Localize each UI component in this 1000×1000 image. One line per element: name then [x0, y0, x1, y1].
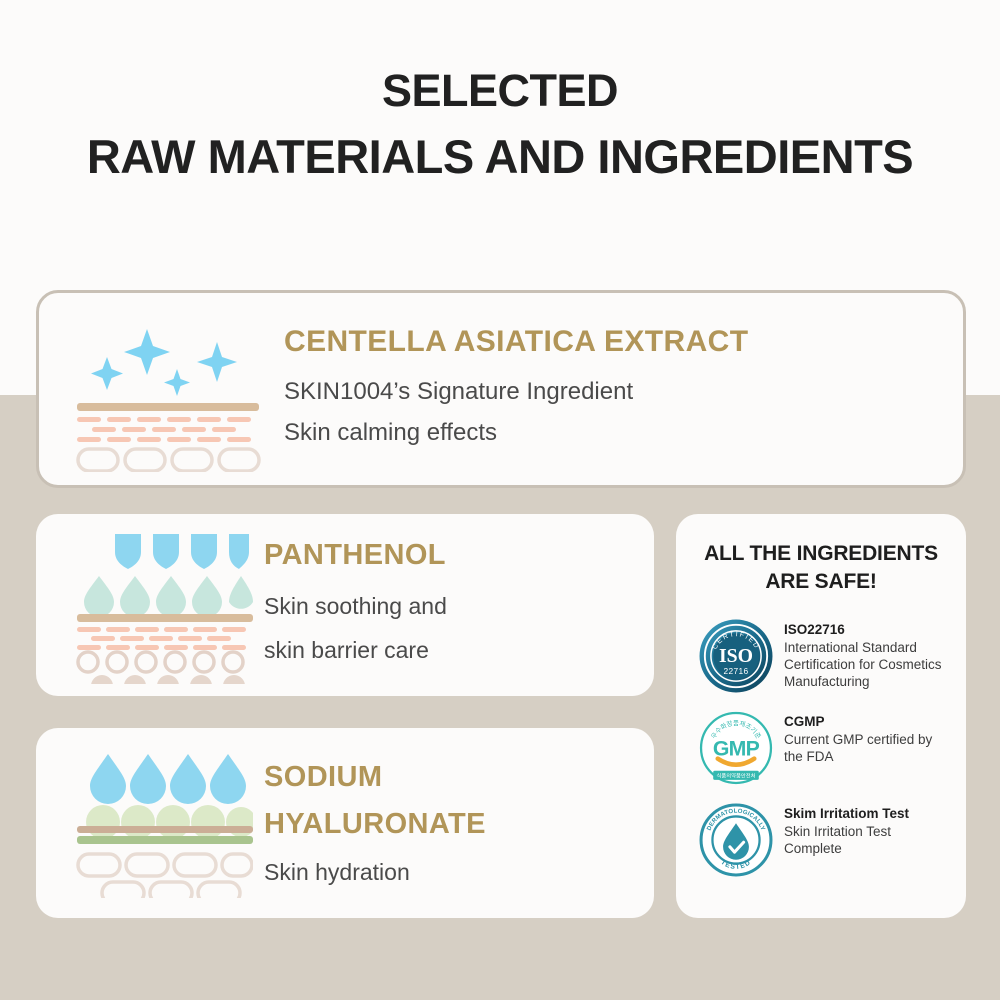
- ingredient-text-panthenol: PANTHENOL Skin soothing and skin barrier…: [264, 539, 654, 672]
- ingredient-desc-centella-1: SKIN1004’s Signature Ingredient: [284, 371, 963, 412]
- ingredient-text-centella: CENTELLA ASIATICA EXTRACT SKIN1004’s Sig…: [284, 325, 963, 453]
- svg-text:ISO: ISO: [719, 645, 753, 667]
- safe-panel-heading: ALL THE INGREDIENTS ARE SAFE!: [676, 514, 966, 596]
- cgmp-seal-icon: 우수화장품제조기준 GMP 식품의약품안전처: [698, 710, 774, 786]
- ingredient-card-centella: CENTELLA ASIATICA EXTRACT SKIN1004’s Sig…: [36, 290, 966, 488]
- certification-item-dermatologically-tested: DERMATOLOGICALLY TESTED Skim Irritatiom …: [676, 802, 966, 878]
- certification-title-iso: ISO22716: [784, 621, 950, 638]
- dermatologically-tested-seal-icon: DERMATOLOGICALLY TESTED: [698, 802, 774, 878]
- ingredient-title-panthenol: PANTHENOL: [264, 539, 654, 572]
- ingredient-desc-panthenol-2: skin barrier care: [264, 628, 654, 672]
- certification-text-dermatologically-tested: Skim Irritatiom Test Skin Irritation Tes…: [784, 802, 950, 857]
- ingredient-title-centella: CENTELLA ASIATICA EXTRACT: [284, 325, 963, 359]
- all-ingredients-safe-panel: ALL THE INGREDIENTS ARE SAFE!: [676, 514, 966, 918]
- ingredient-desc-panthenol-1: Skin soothing and: [264, 584, 654, 628]
- iso-certified-seal-icon: CERTIFIED ISO 22716: [698, 618, 774, 694]
- ingredient-card-sodium-hyaluronate: SODIUM HYALURONATE Skin hydration: [36, 728, 654, 918]
- certification-desc-iso: International Standard Certification for…: [784, 639, 950, 690]
- water-droplets-skin-layers-icon: [64, 748, 264, 898]
- ingredient-card-panthenol: PANTHENOL Skin soothing and skin barrier…: [36, 514, 654, 696]
- certification-text-iso: ISO22716 International Standard Certific…: [784, 618, 950, 690]
- ingredient-title-sodium-line2: HYALURONATE: [264, 801, 654, 848]
- shields-droplets-skin-layers-icon: [64, 526, 264, 684]
- certification-desc-dermatologically-tested: Skin Irritation Test Complete: [784, 823, 950, 857]
- certification-item-cgmp: 우수화장품제조기준 GMP 식품의약품안전처 CGMP Current GMP …: [676, 710, 966, 786]
- certification-list: CERTIFIED ISO 22716 ISO22716 Internation…: [676, 618, 966, 878]
- ingredient-desc-centella-2: Skin calming effects: [284, 412, 963, 453]
- certification-item-iso: CERTIFIED ISO 22716 ISO22716 Internation…: [676, 618, 966, 694]
- sparkles-skin-layers-icon: [61, 307, 276, 472]
- safe-panel-heading-line2: ARE SAFE!: [694, 568, 948, 596]
- ingredient-text-sodium-hyaluronate: SODIUM HYALURONATE Skin hydration: [264, 754, 654, 893]
- page-title: SELECTED RAW MATERIALS AND INGREDIENTS: [0, 58, 1000, 190]
- safe-panel-heading-line1: ALL THE INGREDIENTS: [694, 540, 948, 568]
- certification-desc-cgmp: Current GMP certified by the FDA: [784, 731, 950, 765]
- certification-title-cgmp: CGMP: [784, 713, 950, 730]
- svg-text:22716: 22716: [723, 666, 748, 676]
- ingredient-title-sodium-line1: SODIUM: [264, 754, 654, 801]
- ingredient-desc-sodium-1: Skin hydration: [264, 852, 654, 893]
- infographic-page: SELECTED RAW MATERIALS AND INGREDIENTS: [0, 0, 1000, 1000]
- certification-title-dermatologically-tested: Skim Irritatiom Test: [784, 805, 950, 822]
- page-title-line1: SELECTED: [0, 58, 1000, 124]
- page-title-line2: RAW MATERIALS AND INGREDIENTS: [0, 124, 1000, 190]
- certification-text-cgmp: CGMP Current GMP certified by the FDA: [784, 710, 950, 765]
